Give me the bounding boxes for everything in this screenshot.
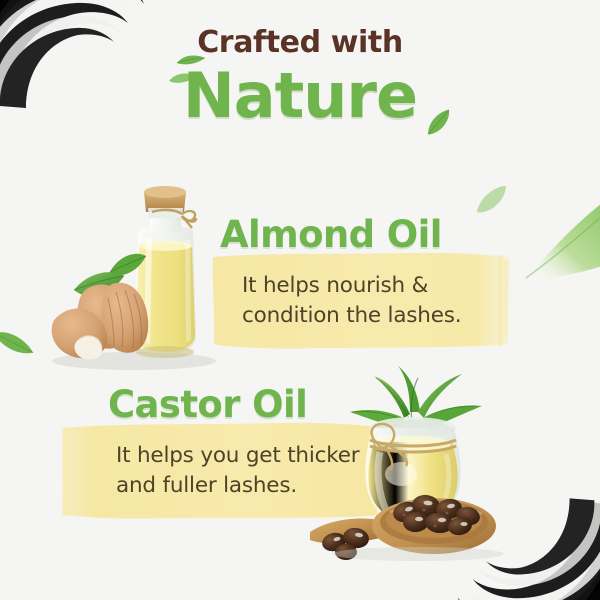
section-body-castor-oil: It helps you get thicker and fuller lash… — [60, 421, 380, 522]
leaf-right-edge-large-icon — [520, 186, 600, 282]
poster-heading: Crafted with Nature — [0, 28, 600, 127]
leaf-left-edge-icon — [0, 324, 39, 361]
heading-line-nature: Nature — [0, 64, 600, 127]
almond-oil-bottle-photo — [26, 168, 238, 374]
section-castor-oil: Castor Oil It helps you get thicker and … — [60, 386, 380, 522]
section-title-castor-oil: Castor Oil — [60, 386, 380, 425]
section-body-almond-oil: It helps nourish & condition the lashes. — [212, 251, 512, 352]
almond-highlight-band-wrap: It helps nourish & condition the lashes. — [212, 251, 512, 352]
heading-line-crafted-with: Crafted with — [0, 28, 600, 58]
castor-body-line-2: and fuller lashes. — [116, 471, 362, 501]
castor-body-line-1: It helps you get thicker — [116, 441, 362, 471]
mascara-brush-swirl-bottom-right-icon — [448, 468, 600, 600]
section-almond-oil: Almond Oil It helps nourish & — [212, 216, 512, 352]
leaf-right-of-nature-icon — [469, 182, 515, 219]
poster-canvas: Crafted with Nature — [0, 0, 600, 600]
almond-body-line-2: condition the lashes. — [242, 301, 494, 331]
section-title-almond-oil: Almond Oil — [212, 216, 512, 255]
castor-highlight-band-wrap: It helps you get thicker and fuller lash… — [60, 421, 380, 522]
almond-body-line-1: It helps nourish & — [242, 271, 494, 301]
